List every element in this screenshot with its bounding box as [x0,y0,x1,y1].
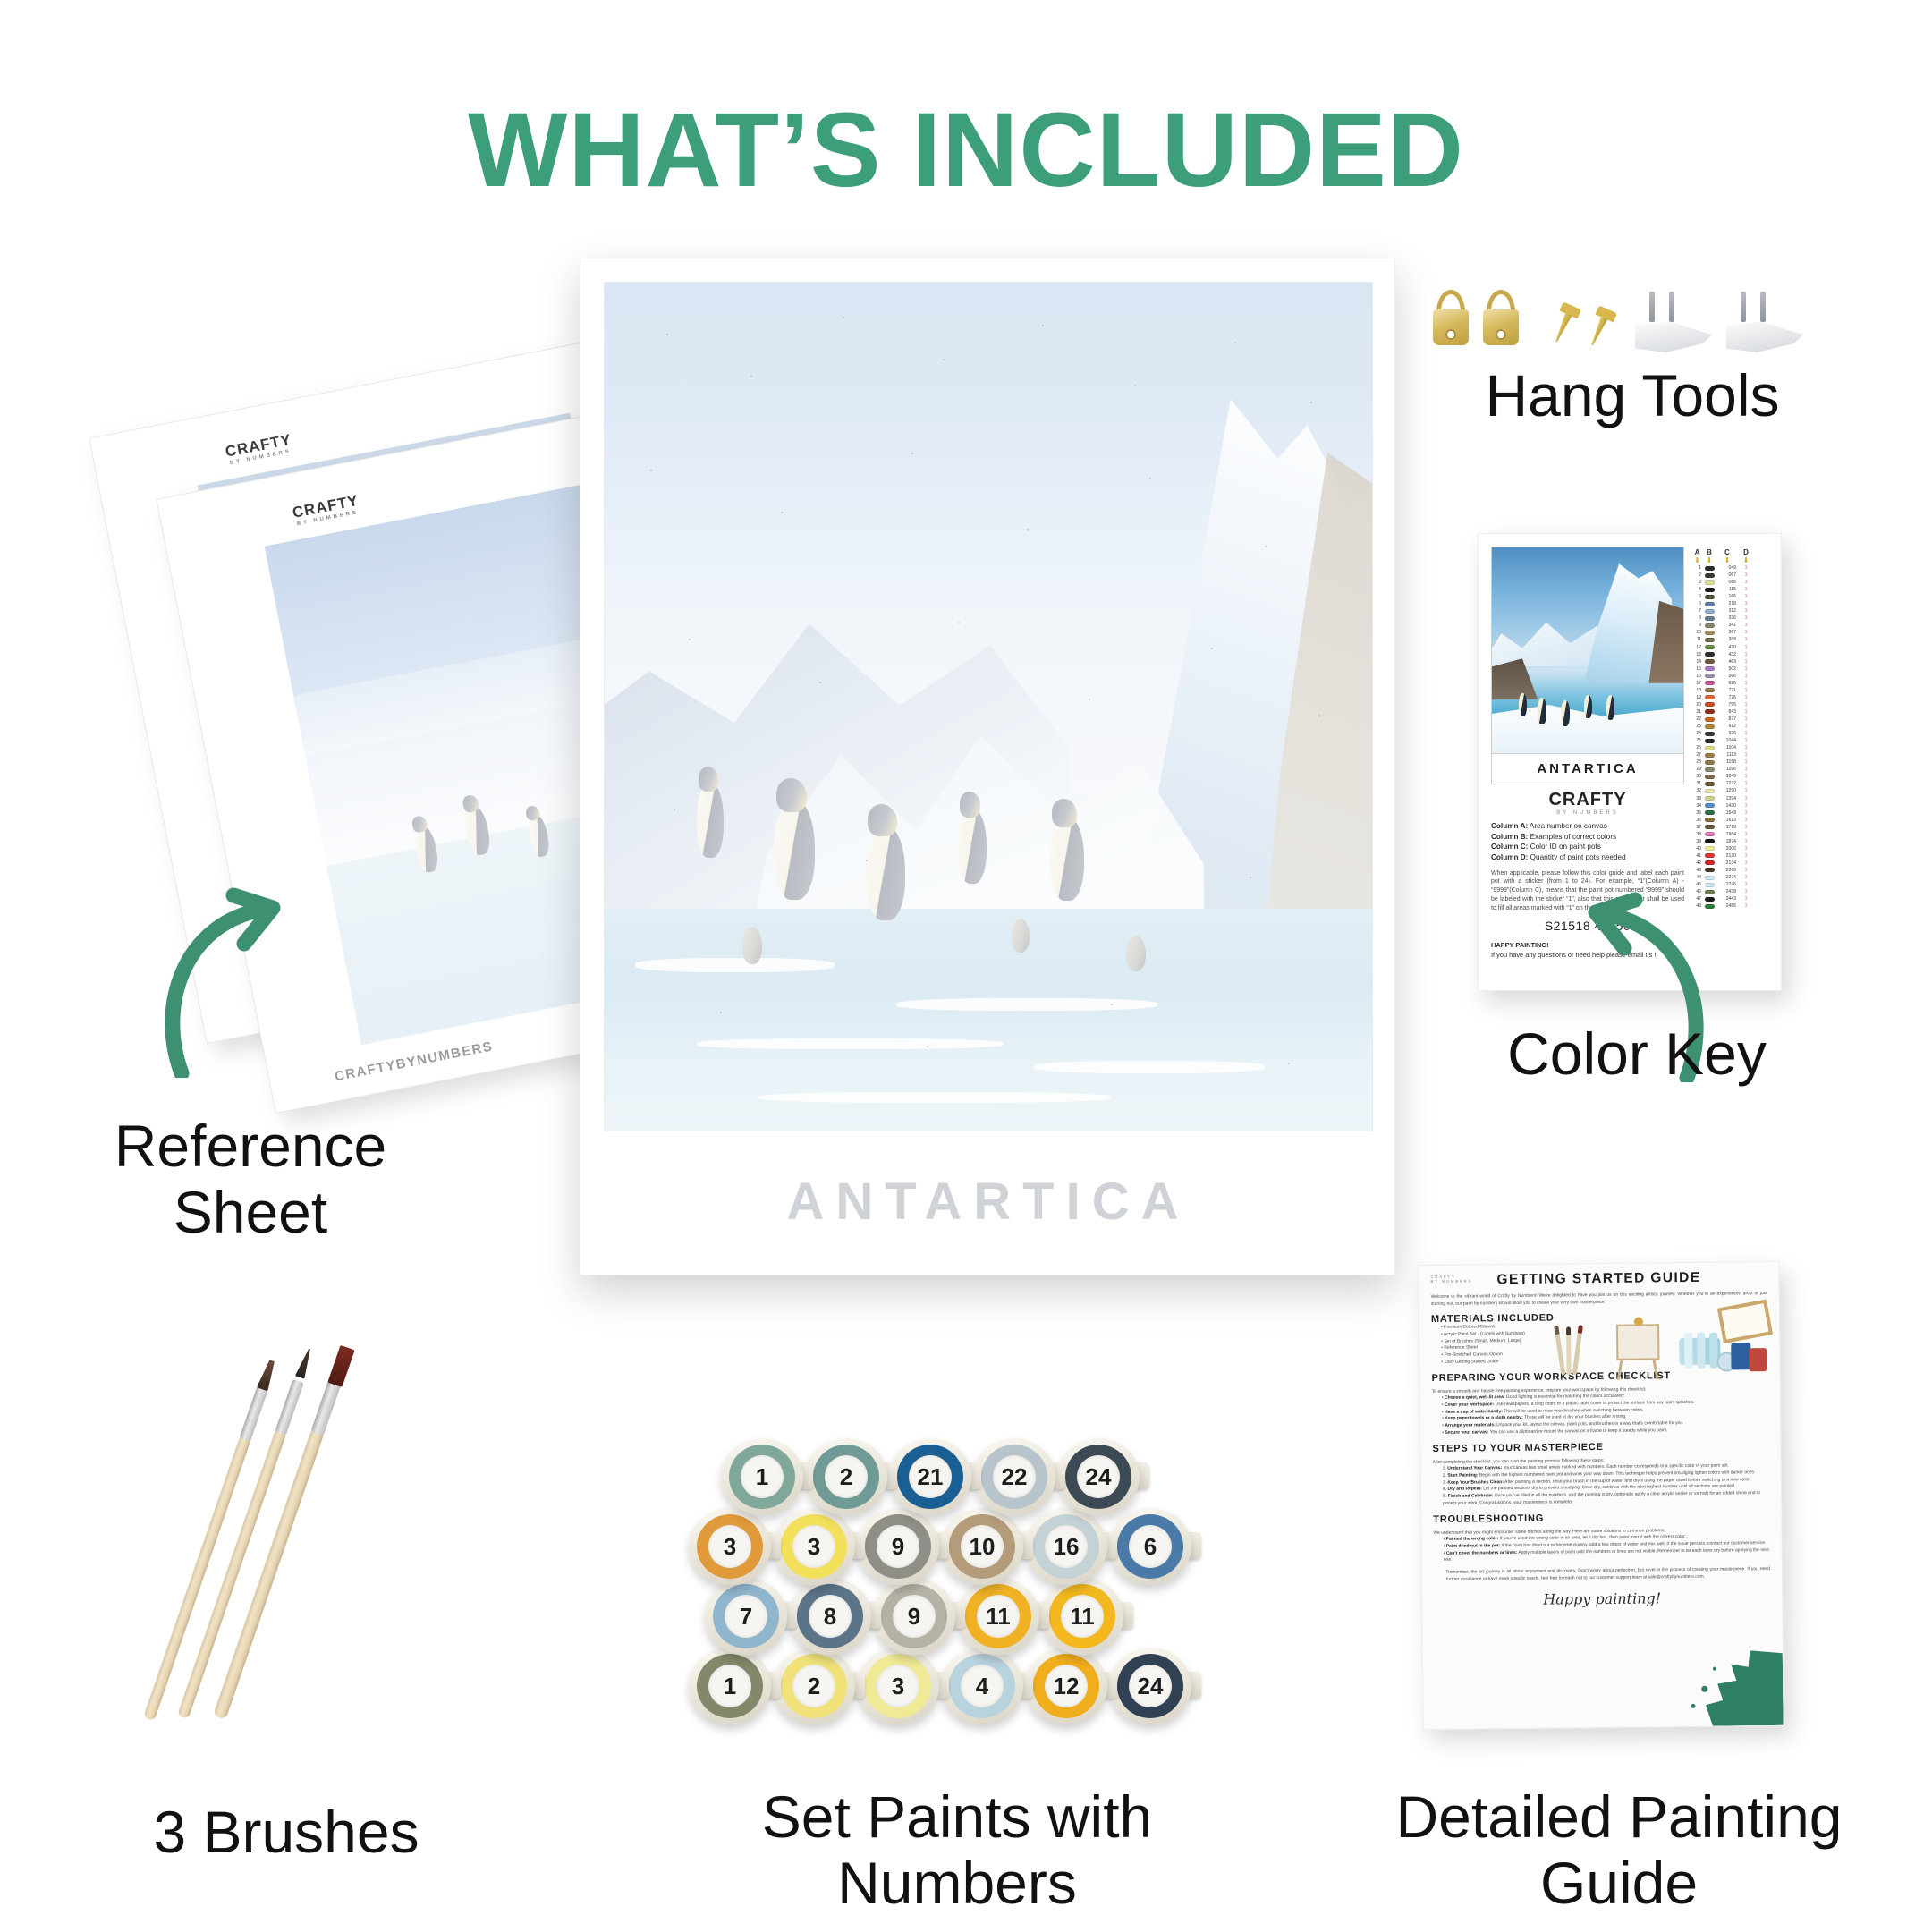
guide-list-item: • Can’t cover the numbers or lines: Appl… [1444,1547,1770,1564]
pot-number-label: 16 [1045,1525,1088,1568]
pot-number-label: 9 [893,1595,936,1638]
pot-number-label: 3 [708,1525,751,1568]
pot-number-label: 11 [977,1595,1020,1638]
color-key-row: 228771 [1691,716,1770,723]
paint-pot[interactable]: 3 [773,1508,855,1585]
guide-label: Detailed Painting Guide [1306,1784,1932,1917]
color-key-row: 197261 [1691,694,1770,701]
color-key-row: 73121 [1691,607,1770,614]
crafty-logo-front: CRAFTY BY NUMBERS [291,492,361,528]
guide-intro: Welcome to the vibrant world of Crafty b… [1431,1291,1767,1308]
color-key-label: Color Key [1395,1020,1878,1088]
color-key-column-legend: Column A: Area number on canvas Column B… [1491,821,1684,863]
paint-pot[interactable]: 8 [789,1578,871,1655]
reference-sheet-label: Reference Sheet [36,1114,465,1246]
pot-number-label: 2 [825,1455,868,1498]
color-key-row: 113881 [1691,636,1770,643]
paint-pot[interactable]: 21 [889,1438,971,1515]
color-key-row: 3112721 [1691,780,1770,787]
easel-illustration [1609,1317,1667,1380]
pot-number-label: 11 [1061,1595,1104,1638]
paint-pot[interactable]: 2 [805,1438,887,1515]
color-key-row: 249361 [1691,730,1770,737]
color-key-row: 20671 [1691,572,1770,579]
pot-number-label: 22 [993,1455,1036,1498]
penguin-chick [1012,919,1030,953]
penguin [774,800,815,900]
color-key-row: 3819841 [1691,831,1770,838]
wall-anchor-icon [1635,292,1712,352]
guide-illustrations [1545,1310,1769,1386]
paint-pot[interactable]: 1 [721,1438,803,1515]
color-key-row: 239121 [1691,723,1770,730]
guide-title: GETTING STARTED GUIDE [1430,1269,1767,1289]
color-key-row: 103671 [1691,629,1770,636]
pot-number-label: 3 [877,1665,919,1707]
color-key-row: 83361 [1691,614,1770,622]
hang-tools-group: Hang Tools [1431,284,1834,481]
penguin [958,809,987,884]
curved-arrow-left-icon [148,854,371,1078]
paint-pot[interactable]: 2 [773,1648,855,1724]
color-key-row: 134321 [1691,651,1770,658]
pot-number-label: 2 [792,1665,835,1707]
guide-list-item: 5. Finish and Celebrate: Once you’ve fil… [1443,1490,1769,1507]
color-key-row: 176261 [1691,680,1770,687]
paint-pot[interactable]: 10 [941,1508,1023,1585]
color-key-row: 30861 [1691,579,1770,586]
color-key-row: 2711131 [1691,751,1770,758]
color-key-row: 207951 [1691,701,1770,708]
paint-brush [213,1340,358,1721]
color-key-row: 218431 [1691,708,1770,716]
screw-icon [1587,307,1614,348]
paint-brush [177,1343,318,1720]
paint-pot[interactable]: 11 [1041,1578,1123,1655]
getting-started-guide: CRAFTY BY NUMBERS GETTING STARTED GUIDE … [1418,1261,1784,1730]
water-body [605,909,1372,1131]
d-ring-hanger-icon [1431,290,1470,345]
color-key-row: 3414301 [1691,802,1770,809]
color-key-row: 124201 [1691,644,1770,651]
color-key-row: 2911661 [1691,766,1770,773]
pot-number-label: 6 [1129,1525,1172,1568]
paint-pot[interactable]: 11 [957,1578,1039,1655]
color-key-row: 155021 [1691,665,1770,673]
pot-number-label: 21 [909,1455,952,1498]
paint-pot[interactable]: 4 [941,1648,1023,1724]
color-key-row: 3717191 [1691,824,1770,831]
color-key-row: 10491 [1691,564,1770,572]
paint-cans-illustration [1716,1341,1768,1377]
pot-number-label: 4 [961,1665,1004,1707]
paint-splash-decoration [1697,1650,1784,1726]
pot-number-label: 24 [1129,1665,1172,1707]
color-key-photo-caption: ANTARTICA [1491,754,1684,784]
color-key-row: 4020061 [1691,845,1770,852]
pot-number-label: 1 [708,1665,751,1707]
guide-closing: Remember, the art journey is all about e… [1446,1566,1770,1583]
page-title: WHAT’S INCLUDED [0,89,1932,211]
color-key-row: 187211 [1691,687,1770,694]
guide-heading-troubleshooting: TROUBLESHOOTING [1433,1511,1769,1525]
color-key-row: 62181 [1691,600,1770,607]
main-canvas-card: ANTARTICA [580,258,1395,1275]
pot-number-label: 9 [877,1525,919,1568]
pot-number-label: 12 [1045,1665,1088,1707]
brushes-group [107,1297,572,1744]
color-key-row: 144631 [1691,658,1770,665]
color-key-row: 3012491 [1691,773,1770,780]
canvas-artwork [604,282,1373,1131]
paint-pots-label: Set Paints with Numbers [635,1784,1279,1917]
screw-icon [1551,303,1579,344]
pot-number-label: 8 [809,1595,852,1638]
infographic-root: WHAT’S INCLUDED CRAFTY BY NUMBERS CRAFTY [0,0,1932,1932]
paint-pot[interactable]: 16 [1025,1508,1107,1585]
penguin-chick [1126,936,1146,971]
color-key-row: 2611041 [1691,744,1770,751]
color-key-brand: CRAFTY BY NUMBERS [1491,790,1684,816]
color-key-row: 3616131 [1691,817,1770,824]
paint-pot[interactable]: 24 [1057,1438,1140,1515]
color-key-row: 3918741 [1691,838,1770,845]
color-key-arrow-row: ⬇⬇ ⬇⬇ [1691,556,1770,564]
color-key-row: 93411 [1691,622,1770,629]
pot-number-label: 1 [741,1455,784,1498]
canvas-title: ANTARTICA [580,1172,1396,1232]
paint-pot[interactable]: 3 [689,1508,771,1585]
color-key-row: 2811581 [1691,758,1770,766]
paint-pot[interactable]: 9 [873,1578,955,1655]
guide-heading-steps: STEPS TO YOUR MASTERPIECE [1432,1440,1768,1454]
color-key-row: 2510441 [1691,737,1770,744]
color-key-row: 3212901 [1691,787,1770,794]
penguin-chick [742,927,762,964]
paint-pot[interactable]: 24 [1109,1648,1191,1724]
d-ring-hanger-icon [1481,290,1521,345]
crafty-logo-back: CRAFTY BY NUMBERS [224,431,294,467]
guide-signature: Happy painting! [1434,1589,1770,1609]
guide-workspace-list: • Choose a quiet, well-lit area: Good li… [1432,1392,1768,1436]
penguin [1050,817,1084,901]
paint-pot[interactable]: 1 [689,1648,771,1724]
paint-pot[interactable]: 12 [1025,1648,1107,1724]
guide-steps-list: 1. Understand Your Canvas: Your canvas h… [1433,1462,1769,1507]
hang-tools-label: Hang Tools [1431,361,1834,429]
color-key-row: 3515491 [1691,809,1770,817]
pot-number-label: 7 [724,1595,767,1638]
paint-pot[interactable]: 7 [705,1578,787,1655]
penguin [866,826,905,920]
penguin [697,783,724,858]
frame-illustration [1717,1299,1773,1343]
color-key-photo [1491,547,1684,754]
brushes-label: 3 Brushes [0,1798,572,1866]
paint-pot[interactable]: 22 [973,1438,1055,1515]
paint-brush [143,1353,282,1722]
guide-troubleshooting-list: • Painted the wrong color: If you’ve use… [1433,1533,1769,1564]
color-key-row: 165661 [1691,673,1770,680]
paint-pot[interactable]: 6 [1109,1508,1191,1585]
pot-number-label: 3 [792,1525,835,1568]
color-key-row: 51661 [1691,593,1770,600]
color-key-row: 3313941 [1691,795,1770,802]
wall-anchor-icon [1726,292,1803,352]
brushes-illustration [1552,1325,1589,1377]
pot-number-label: 24 [1077,1455,1120,1498]
paint-pot[interactable]: 3 [857,1648,939,1724]
pot-number-label: 10 [961,1525,1004,1568]
paint-pots-group: 1221222433910166789111112341224 [689,1438,1216,1742]
paint-pot[interactable]: 9 [857,1508,939,1585]
color-key-row: 41151 [1691,586,1770,593]
